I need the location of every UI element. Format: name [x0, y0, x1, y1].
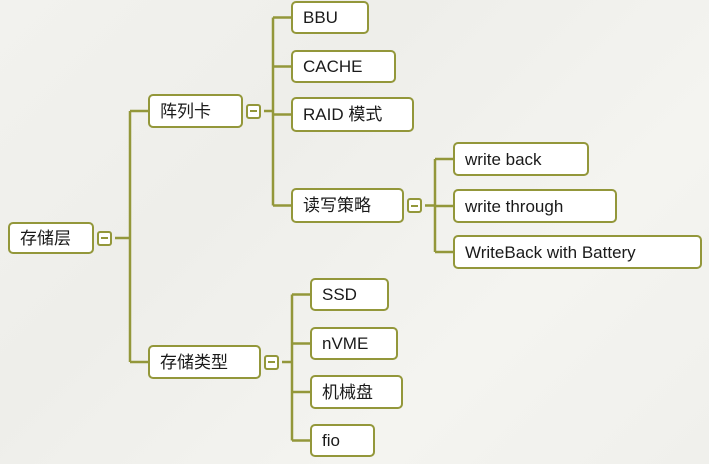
mindmap-node-ssd[interactable]: SSD	[310, 278, 389, 311]
mindmap-node-label: BBU	[303, 9, 338, 26]
mindmap-node-rwpolicy[interactable]: 读写策略	[291, 188, 404, 223]
mindmap-node-writethrough[interactable]: write through	[453, 189, 617, 223]
mindmap-node-label: nVME	[322, 335, 368, 352]
mindmap-node-root[interactable]: 存储层	[8, 222, 94, 254]
mindmap-node-stype[interactable]: 存储类型	[148, 345, 261, 379]
mindmap-node-label: 机械盘	[322, 384, 373, 401]
mindmap-node-label: CACHE	[303, 58, 363, 75]
mindmap-node-label: SSD	[322, 286, 357, 303]
mindmap-node-hdd[interactable]: 机械盘	[310, 375, 403, 409]
mindmap-node-wbbattery[interactable]: WriteBack with Battery	[453, 235, 702, 269]
collapse-toggle-icon-stype[interactable]	[264, 355, 279, 370]
mindmap-node-label: RAID 模式	[303, 106, 382, 123]
mindmap-canvas: 存储层阵列卡存储类型BBUCACHERAID 模式读写策略write backw…	[0, 0, 709, 464]
mindmap-node-label: write through	[465, 198, 563, 215]
mindmap-node-label: WriteBack with Battery	[465, 244, 636, 261]
mindmap-node-fio[interactable]: fio	[310, 424, 375, 457]
mindmap-node-raid[interactable]: 阵列卡	[148, 94, 243, 128]
mindmap-node-label: 阵列卡	[160, 103, 211, 120]
mindmap-node-writeback[interactable]: write back	[453, 142, 589, 176]
collapse-toggle-icon-root[interactable]	[97, 231, 112, 246]
mindmap-node-raidmode[interactable]: RAID 模式	[291, 97, 414, 132]
mindmap-node-label: 存储层	[20, 230, 71, 247]
mindmap-node-label: 存储类型	[160, 354, 228, 371]
mindmap-node-cache[interactable]: CACHE	[291, 50, 396, 83]
mindmap-node-label: 读写策略	[303, 197, 371, 214]
mindmap-node-label: fio	[322, 432, 340, 449]
mindmap-node-nvme[interactable]: nVME	[310, 327, 398, 360]
mindmap-node-bbu[interactable]: BBU	[291, 1, 369, 34]
collapse-toggle-icon-raid[interactable]	[246, 104, 261, 119]
collapse-toggle-icon-rwpolicy[interactable]	[407, 198, 422, 213]
mindmap-node-label: write back	[465, 151, 542, 168]
